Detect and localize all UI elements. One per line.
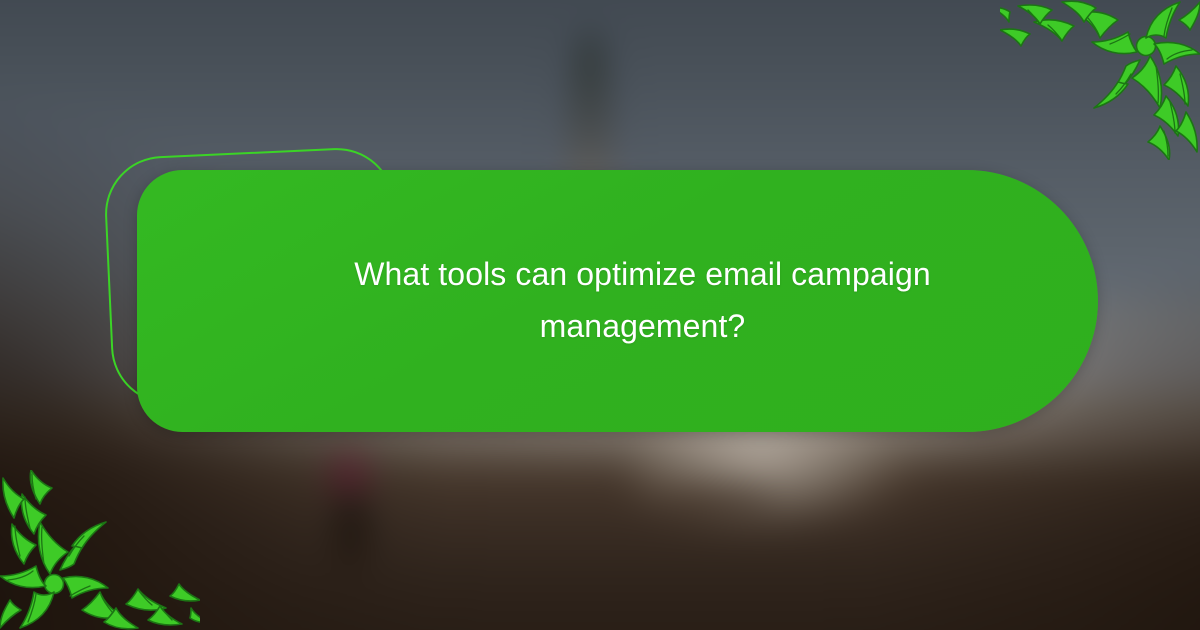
quote-text: What tools can optimize email campaign m… xyxy=(293,249,993,353)
poster-canvas: What tools can optimize email campaign m… xyxy=(0,0,1200,630)
quote-card: What tools can optimize email campaign m… xyxy=(137,170,1098,432)
